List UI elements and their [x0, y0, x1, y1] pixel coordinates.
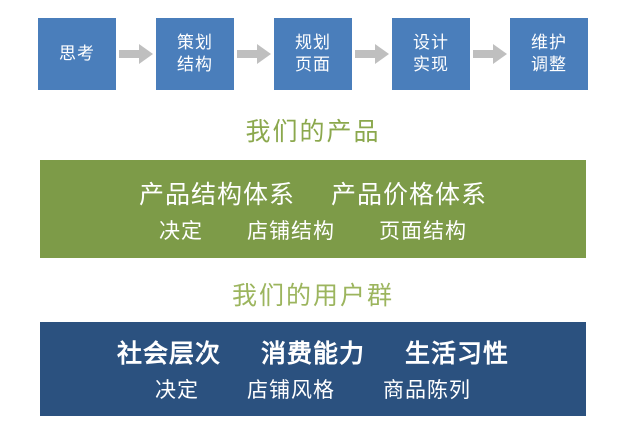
- users-sub-row: 决定 店铺风格 商品陈列: [40, 374, 586, 404]
- products-heading: 我们的产品: [0, 112, 626, 148]
- users-main-item-1: 社会层次: [97, 334, 241, 370]
- users-heading: 我们的用户群: [0, 276, 626, 312]
- users-main-item-2: 消费能力: [241, 334, 385, 370]
- flow-step-1-line1: 思考: [59, 43, 95, 65]
- arrow-right-icon: [470, 18, 510, 90]
- flow-step-4-line1: 设计: [413, 32, 449, 54]
- users-main-item-3: 生活习性: [385, 334, 529, 370]
- products-main-row: 产品结构体系 产品价格体系: [40, 175, 586, 211]
- process-flow: 思考 策划 结构 规划 页面 设计 实现 维护 调整: [0, 8, 626, 100]
- flow-step-2-line1: 策划: [177, 32, 213, 54]
- products-panel: 产品结构体系 产品价格体系 决定 店铺结构 页面结构: [40, 160, 586, 258]
- users-sub-item-1: 决定: [131, 374, 223, 404]
- arrow-right-icon: [116, 18, 156, 90]
- flow-step-3-line1: 规划: [295, 32, 331, 54]
- users-sub-item-3: 商品陈列: [359, 374, 495, 404]
- flow-step-5-line1: 维护: [531, 32, 567, 54]
- arrow-right-icon: [234, 18, 274, 90]
- flow-step-5: 维护 调整: [510, 18, 588, 90]
- flow-step-3: 规划 页面: [274, 18, 352, 90]
- arrow-right-icon: [352, 18, 392, 90]
- products-sub-row: 决定 店铺结构 页面结构: [40, 215, 586, 245]
- products-sub-item-3: 页面结构: [357, 215, 489, 245]
- flow-step-5-line2: 调整: [531, 54, 567, 76]
- flow-step-4-line2: 实现: [413, 54, 449, 76]
- flow-step-4: 设计 实现: [392, 18, 470, 90]
- flow-step-2-line2: 结构: [177, 54, 213, 76]
- users-main-row: 社会层次 消费能力 生活习性: [40, 334, 586, 370]
- flow-step-1: 思考: [38, 18, 116, 90]
- flow-step-3-line2: 页面: [295, 54, 331, 76]
- users-sub-item-2: 店铺风格: [223, 374, 359, 404]
- users-panel: 社会层次 消费能力 生活习性 决定 店铺风格 商品陈列: [40, 322, 586, 416]
- products-sub-item-1: 决定: [137, 215, 225, 245]
- products-main-item-1: 产品结构体系: [121, 175, 313, 211]
- flow-step-2: 策划 结构: [156, 18, 234, 90]
- products-sub-item-2: 店铺结构: [225, 215, 357, 245]
- products-main-item-2: 产品价格体系: [313, 175, 505, 211]
